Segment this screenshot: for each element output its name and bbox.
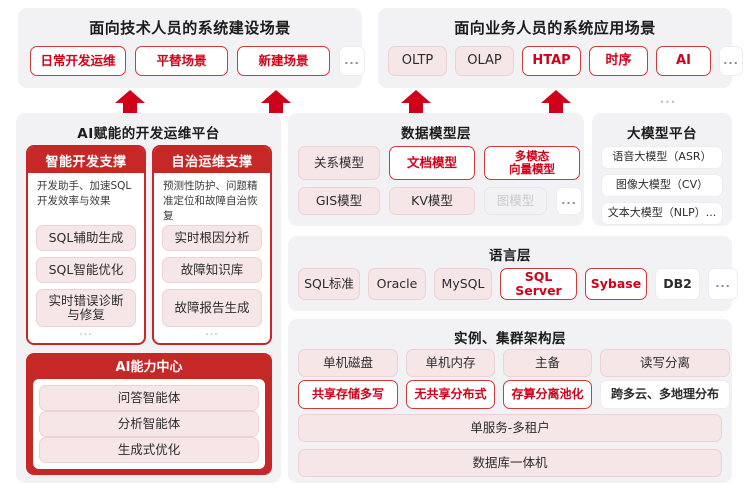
chip-time-series[interactable]: 时序 xyxy=(589,46,648,76)
chip-database-appliance[interactable]: 数据库一体机 xyxy=(298,449,722,477)
cluster-layer-title: 实例、集群架构层 xyxy=(288,319,732,347)
chip-new-build-scenario[interactable]: 新建场景 xyxy=(237,46,330,76)
chip-ai[interactable]: AI xyxy=(656,46,711,76)
item-sql-smart-optimization[interactable]: SQL智能优化 xyxy=(36,257,136,283)
llm-platform-items: 语音大模型（ASR） 图像大模型（CV） 文本大模型（NLP）... xyxy=(601,146,723,225)
item-realtime-error-diagnosis[interactable]: 实时错误诊断 与修复 xyxy=(36,289,136,327)
llm-platform-title: 大模型平台 xyxy=(592,113,732,142)
business-overflow-dots: ... xyxy=(648,92,688,106)
chip-standalone-disk[interactable]: 单机磁盘 xyxy=(298,349,398,377)
chip-sql-standard[interactable]: SQL标准 xyxy=(298,268,360,300)
item-realtime-root-cause-analysis[interactable]: 实时根因分析 xyxy=(162,225,262,251)
chip-standalone-memory[interactable]: 单机内存 xyxy=(406,349,495,377)
chip-compute-storage-separation[interactable]: 存算分离池化 xyxy=(503,380,592,409)
chip-more-data-models[interactable]: ... xyxy=(556,187,582,215)
arrow-stem xyxy=(123,102,137,113)
language-layer-panel: 语言层 SQL标准 Oracle MySQL SQL Server Sybase… xyxy=(288,236,732,311)
card-intelligent-dev-support-items: SQL辅助生成 SQL智能优化 实时错误诊断 与修复 xyxy=(36,225,136,327)
header-right-chip-row: OLTP OLAP HTAP 时序 AI ... xyxy=(388,46,743,76)
card-autonomous-ops-support: 自治运维支撑 预测性防护、问题精准定位和故障自治恢复 实时根因分析 故障知识库 … xyxy=(152,145,272,345)
ai-capability-center: AI能力中心 问答智能体 分析智能体 生成式优化 xyxy=(26,353,272,475)
chip-htap[interactable]: HTAP xyxy=(522,46,581,76)
ai-capability-center-items: 问答智能体 分析智能体 生成式优化 xyxy=(33,379,265,469)
cluster-layer-panel: 实例、集群架构层 单机磁盘 单机内存 主备 读写分离 共享存储多写 无共享分布式… xyxy=(288,319,732,483)
data-model-row-2: GIS模型 KV模型 图模型 ... xyxy=(298,187,582,215)
item-qa-agent[interactable]: 问答智能体 xyxy=(39,385,259,411)
chip-oltp[interactable]: OLTP xyxy=(388,46,447,76)
header-right-title: 面向业务人员的系统应用场景 xyxy=(378,8,732,38)
dev-platform-panel: AI赋能的开发运维平台 智能开发支撑 开发助手、加速SQL开发效率与效果 SQL… xyxy=(16,113,281,483)
chip-more-technical[interactable]: ... xyxy=(339,46,365,76)
data-model-layer-panel: 数据模型层 关系模型 文档模型 多模态 向量模型 GIS模型 KV模型 图模型 … xyxy=(288,113,584,226)
card-intelligent-dev-support: 智能开发支撑 开发助手、加速SQL开发效率与效果 SQL辅助生成 SQL智能优化… xyxy=(26,145,146,345)
item-generative-optimization[interactable]: 生成式优化 xyxy=(39,437,259,463)
chip-multimodal-vector-model[interactable]: 多模态 向量模型 xyxy=(484,146,580,180)
language-layer-title: 语言层 xyxy=(288,236,732,264)
chip-olap[interactable]: OLAP xyxy=(455,46,514,76)
chip-sybase[interactable]: Sybase xyxy=(585,268,647,300)
item-fault-knowledge-base[interactable]: 故障知识库 xyxy=(162,257,262,283)
card-intelligent-dev-support-dots: ... xyxy=(28,328,144,338)
chip-text-llm-nlp[interactable]: 文本大模型（NLP）... xyxy=(601,202,723,225)
language-layer-chip-row: SQL标准 Oracle MySQL SQL Server Sybase DB2… xyxy=(298,268,738,300)
chip-oracle[interactable]: Oracle xyxy=(368,268,426,300)
chip-sql-server[interactable]: SQL Server xyxy=(500,268,577,300)
item-fault-report-generation[interactable]: 故障报告生成 xyxy=(162,289,262,327)
card-intelligent-dev-support-desc: 开发助手、加速SQL开发效率与效果 xyxy=(28,173,144,211)
chip-shared-storage-multiwrite[interactable]: 共享存储多写 xyxy=(298,380,398,409)
chip-multicloud-geo-distribution[interactable]: 跨多云、多地理分布 xyxy=(600,380,730,409)
item-sql-assisted-generation[interactable]: SQL辅助生成 xyxy=(36,225,136,251)
data-model-row-1: 关系模型 文档模型 多模态 向量模型 xyxy=(298,146,580,180)
card-intelligent-dev-support-title: 智能开发支撑 xyxy=(28,147,144,173)
chip-primary-standby[interactable]: 主备 xyxy=(503,349,592,377)
chip-daily-devops[interactable]: 日常开发运维 xyxy=(30,46,126,76)
data-model-layer-title: 数据模型层 xyxy=(288,113,584,142)
cluster-wide-rows: 单服务-多租户 数据库一体机 xyxy=(298,414,722,477)
chip-kv-model[interactable]: KV模型 xyxy=(389,187,475,215)
chip-shared-nothing-distributed[interactable]: 无共享分布式 xyxy=(406,380,495,409)
card-autonomous-ops-support-title: 自治运维支撑 xyxy=(154,147,270,173)
arrow-stem xyxy=(549,102,563,113)
chip-gis-model[interactable]: GIS模型 xyxy=(298,187,380,215)
chip-relational-model[interactable]: 关系模型 xyxy=(298,146,380,180)
chip-graph-model[interactable]: 图模型 xyxy=(484,187,547,215)
chip-more-business[interactable]: ... xyxy=(719,46,743,76)
arrow-stem xyxy=(409,102,423,113)
card-autonomous-ops-support-items: 实时根因分析 故障知识库 故障报告生成 xyxy=(162,225,262,327)
chip-single-service-multitenant[interactable]: 单服务-多租户 xyxy=(298,414,722,442)
llm-platform-panel: 大模型平台 语音大模型（ASR） 图像大模型（CV） 文本大模型（NLP）... xyxy=(592,113,732,226)
chip-read-write-split[interactable]: 读写分离 xyxy=(600,349,730,377)
cluster-row-2: 共享存储多写 无共享分布式 存算分离池化 跨多云、多地理分布 xyxy=(298,380,730,409)
chip-replacement-scenario[interactable]: 平替场景 xyxy=(135,46,228,76)
header-panel-technical: 面向技术人员的系统建设场景 日常开发运维 平替场景 新建场景 ... xyxy=(18,8,362,88)
cluster-row-1: 单机磁盘 单机内存 主备 读写分离 xyxy=(298,349,730,377)
ai-capability-center-title: AI能力中心 xyxy=(26,353,272,377)
chip-speech-llm-asr[interactable]: 语音大模型（ASR） xyxy=(601,146,723,169)
chip-vision-llm-cv[interactable]: 图像大模型（CV） xyxy=(601,174,723,197)
header-panel-business: 面向业务人员的系统应用场景 OLTP OLAP HTAP 时序 AI ... xyxy=(378,8,732,88)
chip-document-model[interactable]: 文档模型 xyxy=(389,146,475,180)
card-autonomous-ops-support-dots: ... xyxy=(154,328,270,338)
chip-db2[interactable]: DB2 xyxy=(655,268,700,300)
chip-more-languages[interactable]: ... xyxy=(708,268,738,300)
chip-mysql[interactable]: MySQL xyxy=(434,268,492,300)
header-left-title: 面向技术人员的系统建设场景 xyxy=(18,8,362,38)
arrow-stem xyxy=(269,102,283,113)
card-autonomous-ops-support-desc: 预测性防护、问题精准定位和故障自治恢复 xyxy=(154,173,270,227)
header-left-chip-row: 日常开发运维 平替场景 新建场景 ... xyxy=(30,46,365,76)
item-analysis-agent[interactable]: 分析智能体 xyxy=(39,411,259,437)
dev-platform-title: AI赋能的开发运维平台 xyxy=(16,113,281,142)
